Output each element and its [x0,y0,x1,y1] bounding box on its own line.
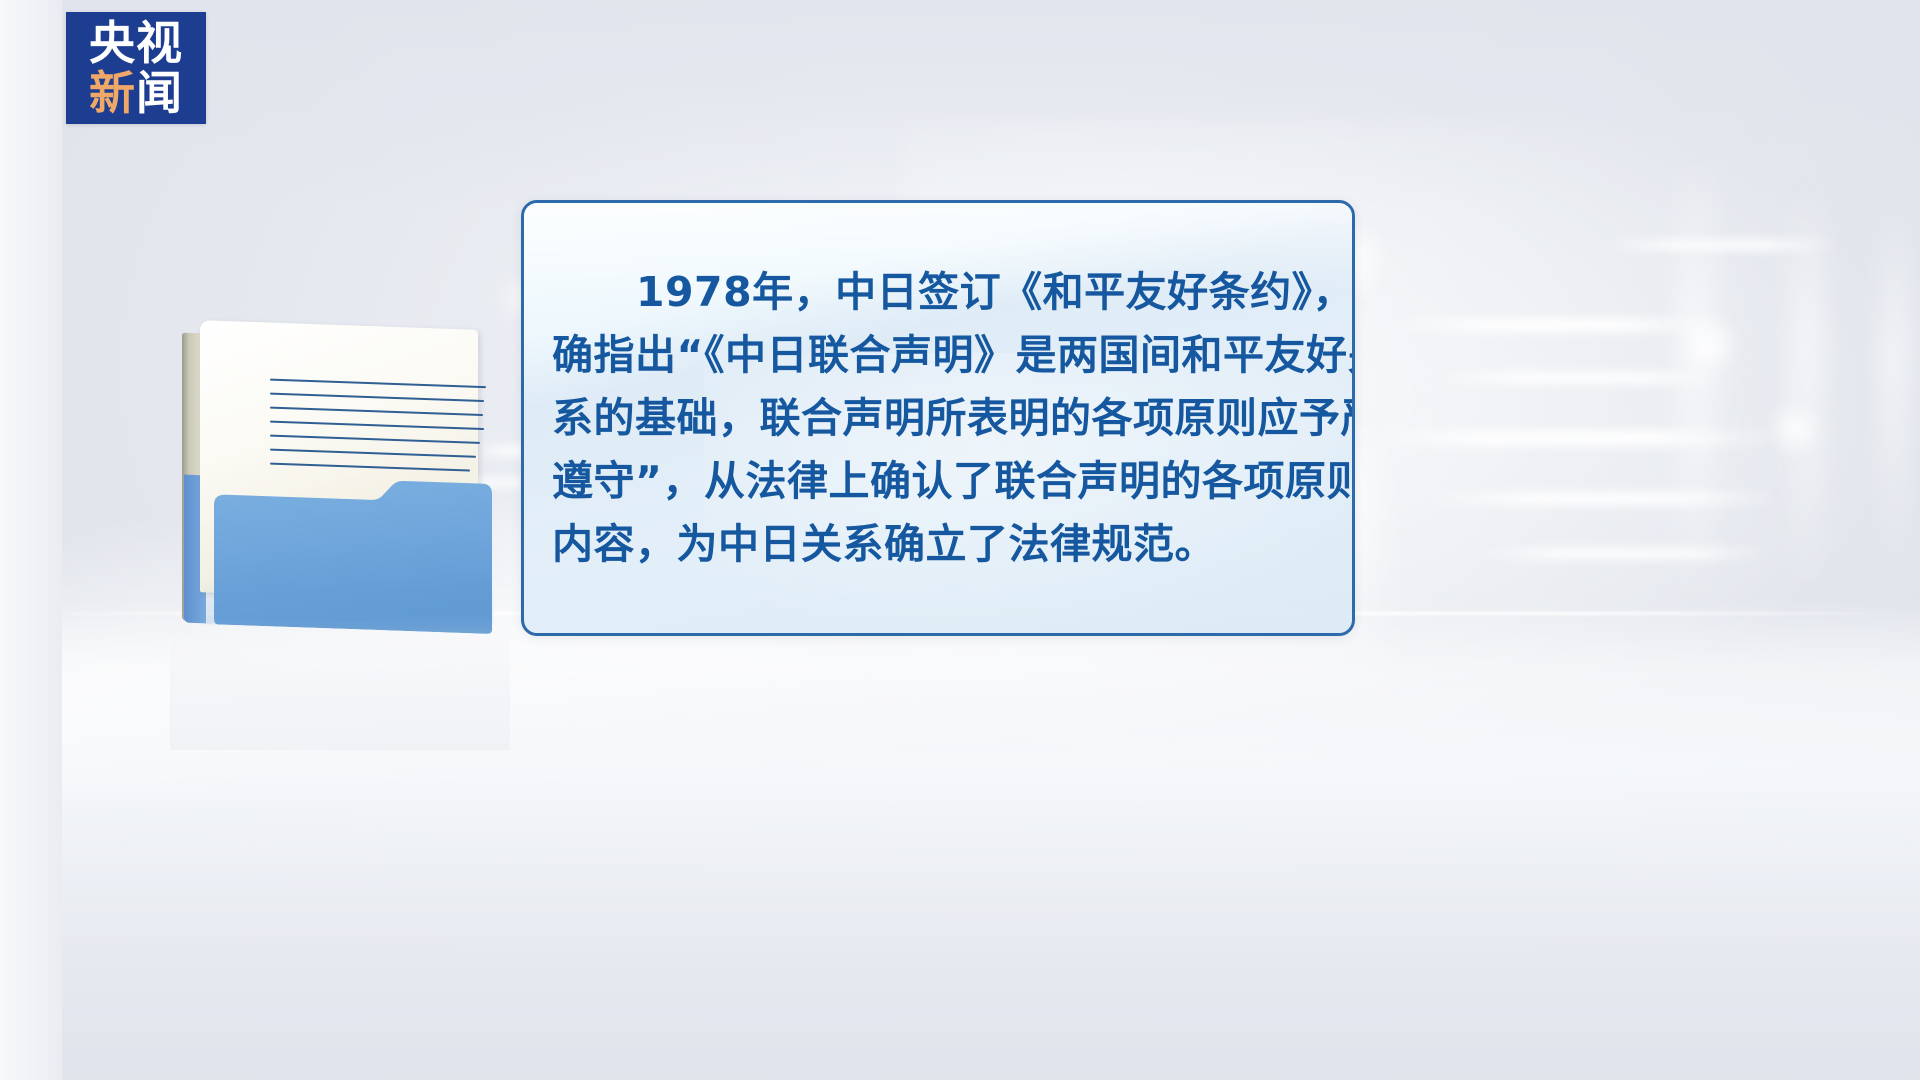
quote-card: 1978年，中日签订《和平友好条约》，明 确指出“《中日联合声明》是两国间和平友… [521,200,1355,636]
card-body-text: 1978年，中日签订《和平友好条约》，明 确指出“《中日联合声明》是两国间和平友… [524,203,1352,576]
card-text-line-1: 1978年，中日签订《和平友好条约》，明 [552,261,1322,324]
broadcast-graphic-slide: 央视 新闻 [0,0,1920,1080]
card-text-line-4: 遵守”，从法律上确认了联合声明的各项原则和 [552,450,1322,513]
background-bokeh-2 [1680,316,1738,374]
background-streak-3 [1360,430,1780,446]
background-band-3 [1880,200,1910,580]
cctv-news-logo: 央视 新闻 [66,12,206,124]
folder-reflection-fade [170,620,510,750]
logo-char-xin: 新 [89,70,136,116]
paper-rule-lines [270,379,486,473]
logo-line-cctv: 央视 [89,20,183,66]
card-text-line-3: 系的基础，联合声明所表明的各项原则应予严格 [552,387,1322,450]
background-streak-1 [1390,318,1720,332]
background-band-2 [1790,180,1824,600]
card-text-line-2: 确指出“《中日联合声明》是两国间和平友好关 [552,324,1322,387]
card-text-line-5: 内容，为中日关系确立了法律规范。 [552,513,1322,576]
folder-reflection [182,577,494,624]
background-bottom-shade [0,780,1920,1080]
background-band-1 [1676,150,1716,620]
paper-rule-line [270,463,470,472]
background-bokeh-3 [1770,404,1820,454]
background-streak-5 [1470,548,1770,559]
background-streak-4 [1420,492,1780,505]
paper-rule-line [270,393,484,402]
background-left-panel [0,0,62,1080]
logo-char-wen: 闻 [136,70,183,116]
paper-rule-line [270,449,476,458]
paper-rule-line [270,435,480,444]
paper-rule-line [270,407,483,416]
folder-reflection-body [204,582,492,624]
logo-line-news: 新闻 [89,70,183,116]
paper-rule-line [270,421,484,430]
paper-rule-line [270,379,486,389]
